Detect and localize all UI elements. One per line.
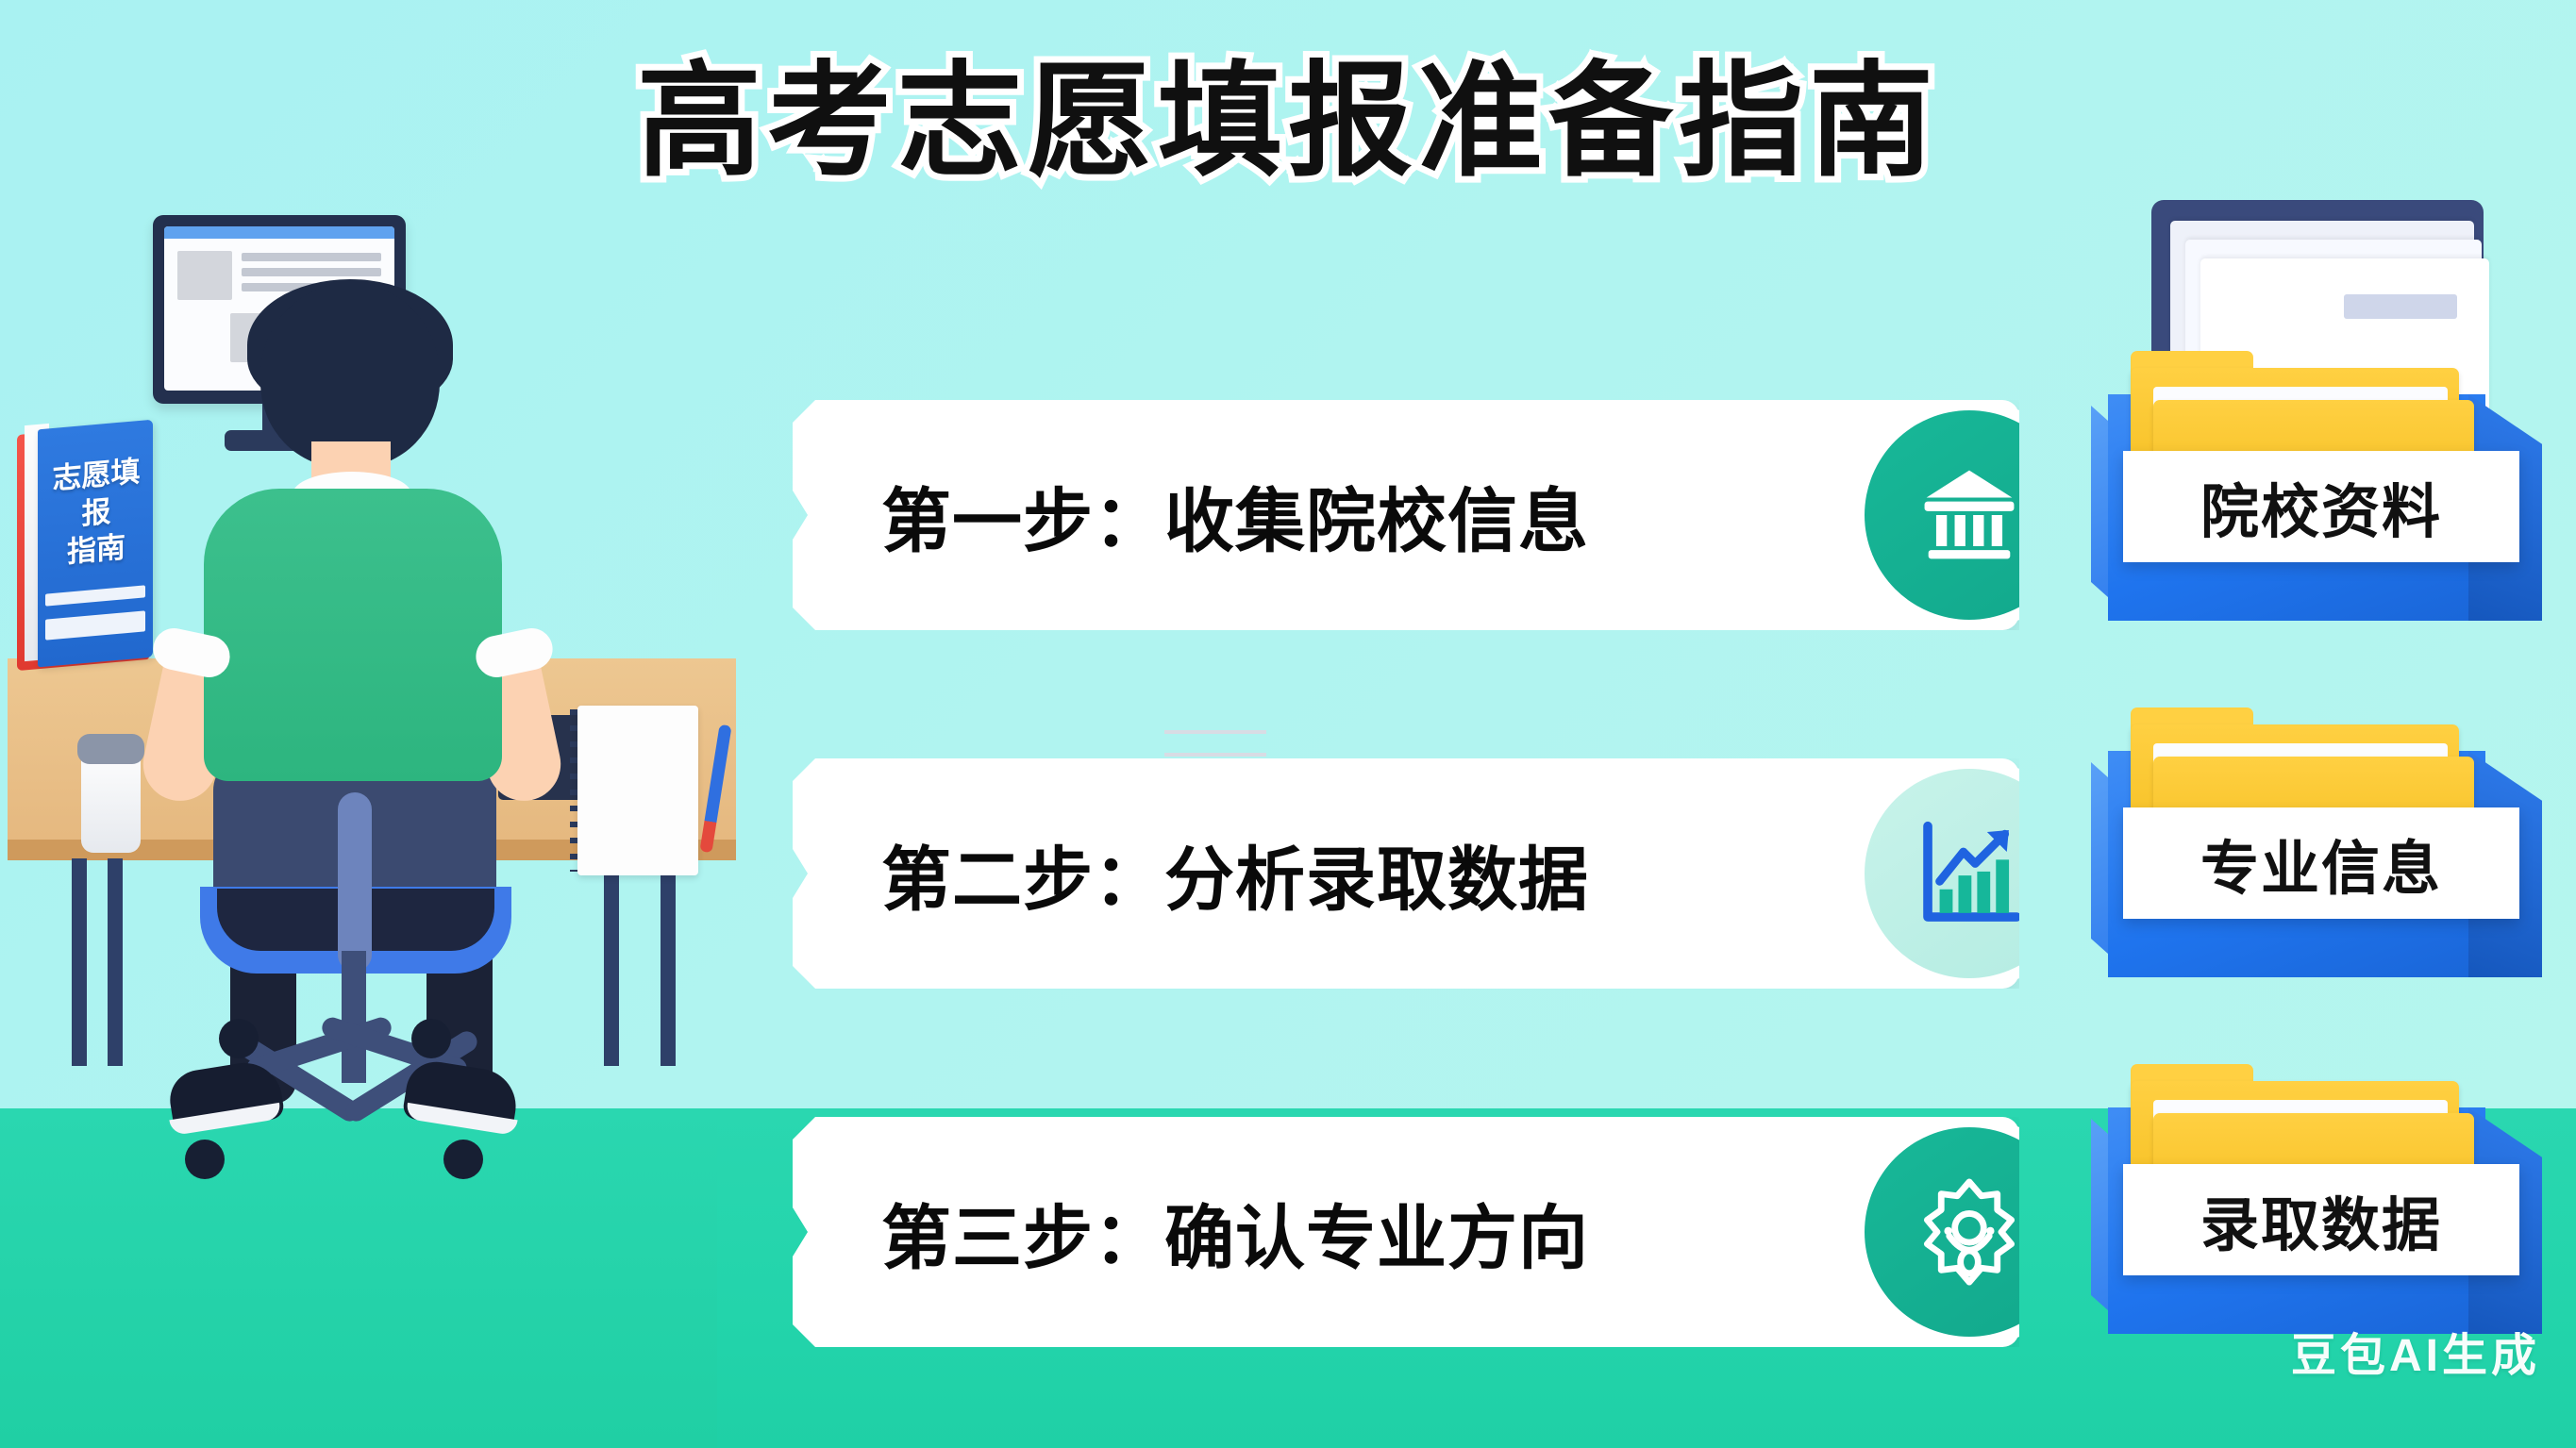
step-card-1[interactable]: 第一步：收集院校信息 <box>793 400 2019 630</box>
ai-watermark: 豆包AI生成 <box>2291 1318 2540 1384</box>
cabinet-label-text-2: 专业信息 <box>2200 821 2442 906</box>
chair-lever <box>338 792 372 972</box>
bank-institution-icon <box>1865 410 2074 620</box>
steps-list: 第一步：收集院校信息 第二步：分析录取数据 <box>793 400 2019 1448</box>
cabinet-label-text-1: 院校资料 <box>2200 464 2442 549</box>
cabinet-tier-1[interactable]: 院校资料 <box>2091 313 2576 624</box>
student-illustration: 志愿填报 指南 <box>0 189 745 1448</box>
bar-chart-growth-icon <box>1865 769 2074 978</box>
step-label-3: 第三步：确认专业方向 <box>881 1182 1589 1283</box>
person-head <box>260 283 440 468</box>
chair-caster <box>443 1140 483 1179</box>
screen-line <box>242 268 381 276</box>
book-title: 志愿填报 指南 <box>49 453 143 574</box>
screen-line <box>242 253 381 261</box>
cabinet-label-text-3: 录取数据 <box>2200 1177 2442 1262</box>
desk-leg <box>604 858 619 1066</box>
infographic-poster: 高考志愿填报准备指南 <box>0 0 2576 1448</box>
chair-caster <box>219 1019 259 1058</box>
cabinet-label-1[interactable]: 院校资料 <box>2123 451 2519 562</box>
person-torso <box>204 489 502 781</box>
desk-leg <box>72 858 87 1066</box>
step-card-3[interactable]: 第三步：确认专业方向 <box>793 1117 2019 1347</box>
step-label-2: 第二步：分析录取数据 <box>881 824 1589 924</box>
file-cabinet: 院校资料 专业信息 录取数据 <box>2091 200 2576 1436</box>
book-title-line-1: 志愿填报 <box>49 453 143 536</box>
page-title: 高考志愿填报准备指南 <box>637 55 1939 190</box>
screen-thumb-1 <box>177 251 232 300</box>
cup-lid <box>77 734 144 764</box>
step-card-2[interactable]: 第二步：分析录取数据 <box>793 758 2019 989</box>
cabinet-label-2[interactable]: 专业信息 <box>2123 807 2519 919</box>
cabinet-tier-3[interactable]: 录取数据 <box>2091 1026 2576 1338</box>
desk-leg <box>108 858 123 1066</box>
cabinet-label-3[interactable]: 录取数据 <box>2123 1164 2519 1275</box>
title-container: 高考志愿填报准备指南 <box>0 55 2576 190</box>
chair-caster <box>185 1140 225 1179</box>
step-label-1: 第一步：收集院校信息 <box>881 465 1589 566</box>
desk-leg <box>661 858 676 1066</box>
chair-post <box>342 951 366 1083</box>
chair-caster <box>411 1019 451 1058</box>
notepad-icon <box>577 706 698 875</box>
cabinet-tier-2[interactable]: 专业信息 <box>2091 670 2576 981</box>
browser-bar <box>164 226 394 239</box>
